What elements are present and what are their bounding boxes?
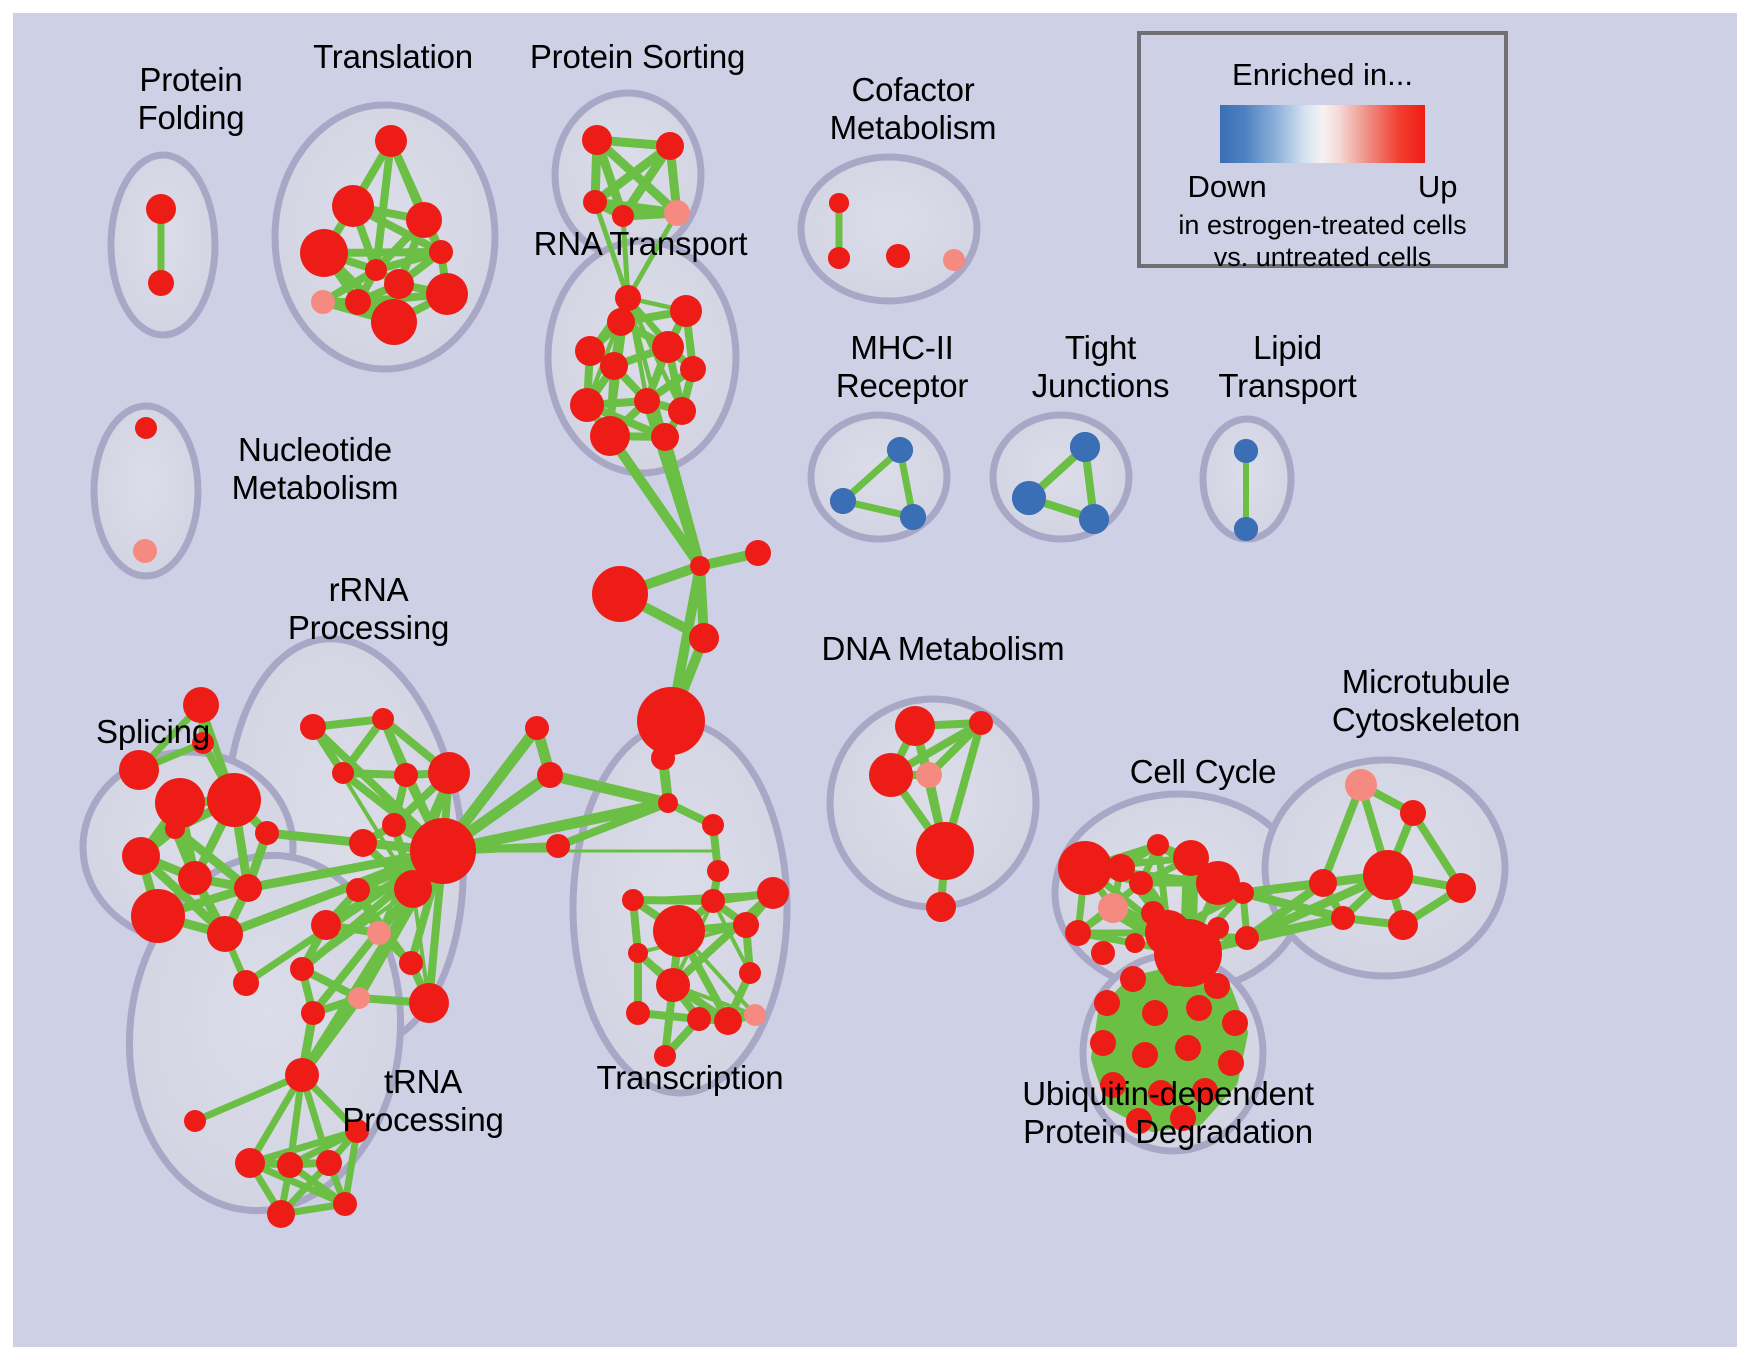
network-canvas: Protein Folding Translation Protein Sort… bbox=[13, 13, 1737, 1347]
legend-title: Enriched in... bbox=[1141, 57, 1504, 93]
figure-root: Protein Folding Translation Protein Sort… bbox=[0, 0, 1750, 1360]
hull-mhc-ii-receptor bbox=[811, 415, 947, 539]
hull-cofactor-metabolism bbox=[801, 157, 977, 301]
legend-color-gradient bbox=[1220, 105, 1425, 163]
legend-endpoints: Down Up bbox=[1188, 169, 1458, 205]
legend-low-label: Down bbox=[1188, 169, 1267, 205]
legend-box: Enriched in... Down Up in estrogen-treat… bbox=[1137, 31, 1508, 268]
legend-high-label: Up bbox=[1418, 169, 1458, 205]
legend-subtitle: in estrogen-treated cells vs. untreated … bbox=[1141, 209, 1504, 273]
